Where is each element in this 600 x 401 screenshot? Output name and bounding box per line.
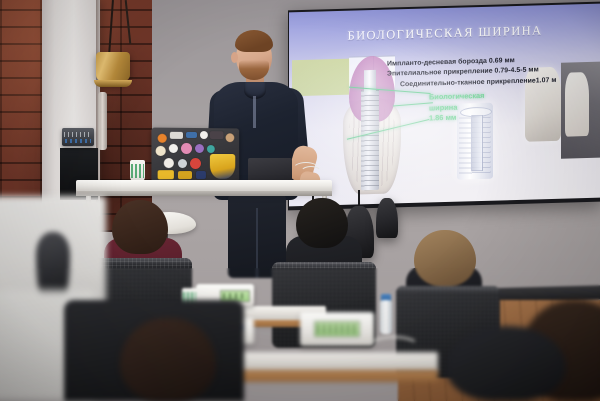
sticker-round-cream [156,146,166,156]
photo-scene: БИОЛОГИЧЕСКАЯ ШИРИНА Импланто-десневая б… [0,0,600,401]
lcd-segments [223,293,247,299]
sticker-square-grey [170,132,183,139]
lcd-segments [317,324,357,334]
green-striped-paper-cup [130,160,145,182]
water-bottle [380,300,392,334]
attendee-front-head [120,318,216,401]
sticker-round-pink [181,143,192,154]
attendee-center-head [296,198,348,248]
sticker-round-tan [226,133,235,142]
audio-mixer [62,128,94,146]
lab-device-front-right-lcd [314,321,360,337]
brass-bell-lip [94,80,132,87]
sticker-round-silver [178,159,187,168]
sticker-badge-gold [178,171,192,179]
implant-3d-core [471,115,483,171]
sticker-round-orange [158,134,167,143]
presenter-ear [231,52,238,63]
sticker-round-white-2 [169,144,178,153]
implant-abutment [364,70,376,94]
wall-pipe [98,92,107,150]
implant-screw-body [361,90,379,191]
sticker-square-navy [196,171,206,179]
presenter-table-edge [76,191,332,196]
attendee-front-right-shoulders [446,326,566,401]
cable-loop-2 [300,166,322,180]
sticker-shield-badge [210,154,235,179]
slide-title: БИОЛОГИЧЕСКАЯ ШИРИНА [289,22,600,46]
sticker-round-red [190,158,201,169]
sticker-round-white-1 [200,131,208,139]
presenter-zip-placket [253,96,256,128]
presenter-leg-seam [256,208,258,278]
annotation-line-3: 1.86 мм [429,112,484,124]
sticker-badge-yellow-left [158,170,174,179]
attendee-right-head [414,230,476,286]
slide-annotation-biologic-width: Биологическая ширина 1.86 мм [429,91,484,124]
slide-text-block: Импланто-десневая борозда 0.69 мм Эпител… [387,54,600,91]
attendee-left-head [112,200,168,254]
sticker-round-purple [195,144,204,153]
annotation-line-1: Биологическая [429,91,484,103]
table-device-dark [248,158,292,182]
lab-device-front-right[interactable] [300,312,374,346]
cable-loop-front [368,336,420,358]
presenter-beard [239,60,269,80]
sticker-round-teal [207,145,215,153]
laptop-lid-with-stickers [151,128,239,183]
sticker-square-dark [210,131,224,139]
projection-screen: БИОЛОГИЧЕСКАЯ ШИРИНА Импланто-десневая б… [288,2,600,211]
pendant-lamp-3 [376,198,398,238]
sticker-round-white-3 [164,158,174,168]
presenter-hair [235,30,273,52]
presentation-slide: БИОЛОГИЧЕСКАЯ ШИРИНА Импланто-десневая б… [289,4,600,207]
sticker-square-blue [186,132,197,138]
